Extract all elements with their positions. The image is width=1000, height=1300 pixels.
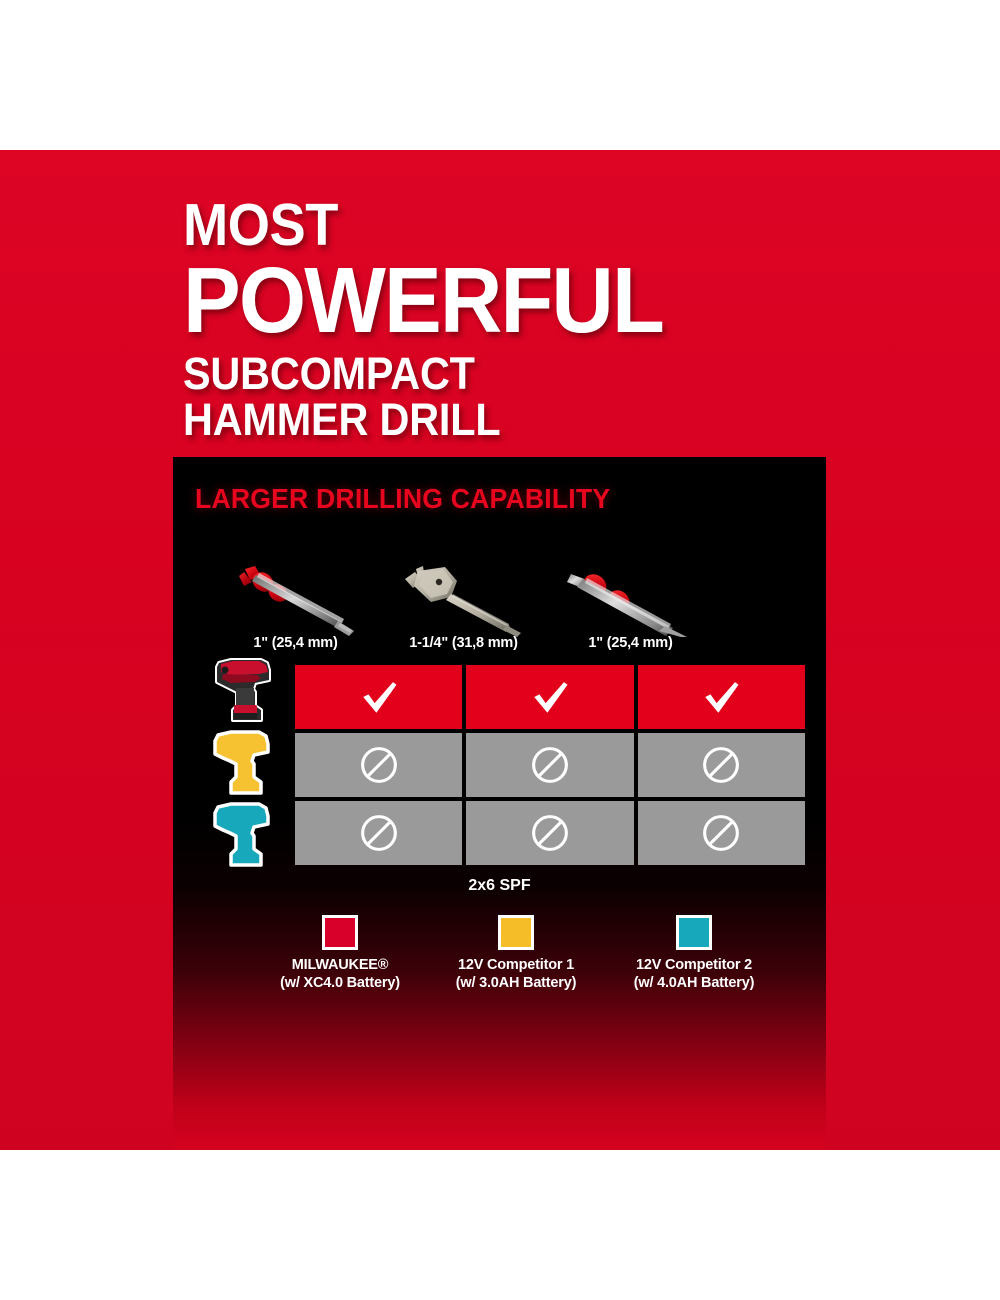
- headline-line-3: SUBCOMPACT: [183, 352, 827, 396]
- prohibited-icon: [701, 813, 741, 853]
- column-label-2: 1-1/4" (31,8 mm): [381, 635, 546, 651]
- prohibited-icon: [530, 813, 570, 853]
- legend-label-competitor-2: 12V Competitor 2: [584, 956, 804, 974]
- result-cell-competitor2-col2: [466, 801, 633, 865]
- competitor-1-drill-icon: [191, 729, 295, 797]
- drill-bit-row: [173, 552, 826, 637]
- comparison-grid: [295, 665, 805, 865]
- check-icon: [358, 676, 400, 718]
- auger-bit-icon-2: [547, 552, 707, 637]
- headline-line-2: POWERFUL: [183, 258, 834, 342]
- comparison-panel: LARGER DRILLING CAPABILITY: [173, 457, 826, 1149]
- result-cell-competitor2-col1: [295, 801, 462, 865]
- prohibited-icon: [530, 745, 570, 785]
- tool-icon-column: [191, 657, 295, 869]
- check-icon: [700, 676, 742, 718]
- legend-swatch-competitor-2: [676, 915, 712, 950]
- result-cell-competitor2-col3: [638, 801, 805, 865]
- result-cell-milwaukee-col1: [295, 665, 462, 729]
- headline-block: MOST POWERFUL SUBCOMPACT HAMMER DRILL: [183, 196, 883, 442]
- milwaukee-drill-icon: [191, 657, 295, 725]
- column-label-3: 1" (25,4 mm): [548, 635, 713, 651]
- legend-sub-competitor-2: (w/ 4.0AH Battery): [584, 974, 804, 992]
- marketing-infographic: MOST POWERFUL SUBCOMPACT HAMMER DRILL LA…: [0, 0, 1000, 1300]
- prohibited-icon: [359, 813, 399, 853]
- legend: MILWAUKEE® (w/ XC4.0 Battery) 12V Compet…: [173, 915, 826, 1025]
- result-cell-milwaukee-col3: [638, 665, 805, 729]
- auger-bit-icon: [214, 552, 374, 637]
- headline-line-1: MOST: [183, 196, 827, 254]
- material-caption: 2x6 SPF: [173, 877, 826, 895]
- column-label-row: 1" (25,4 mm) 1-1/4" (31,8 mm) 1" (25,4 m…: [173, 635, 826, 659]
- result-cell-competitor1-col2: [466, 733, 633, 797]
- check-icon: [529, 676, 571, 718]
- column-label-1: 1" (25,4 mm): [213, 635, 378, 651]
- legend-swatch-milwaukee: [322, 915, 358, 950]
- result-cell-milwaukee-col2: [466, 665, 633, 729]
- legend-item-competitor-2: 12V Competitor 2 (w/ 4.0AH Battery): [584, 915, 804, 992]
- legend-swatch-competitor-1: [498, 915, 534, 950]
- competitor-2-drill-icon: [191, 801, 295, 869]
- headline-line-4: HAMMER DRILL: [183, 398, 827, 442]
- prohibited-icon: [701, 745, 741, 785]
- result-cell-competitor1-col3: [638, 733, 805, 797]
- panel-title: LARGER DRILLING CAPABILITY: [195, 483, 610, 515]
- result-cell-competitor1-col1: [295, 733, 462, 797]
- spade-bit-icon: [379, 552, 539, 637]
- prohibited-icon: [359, 745, 399, 785]
